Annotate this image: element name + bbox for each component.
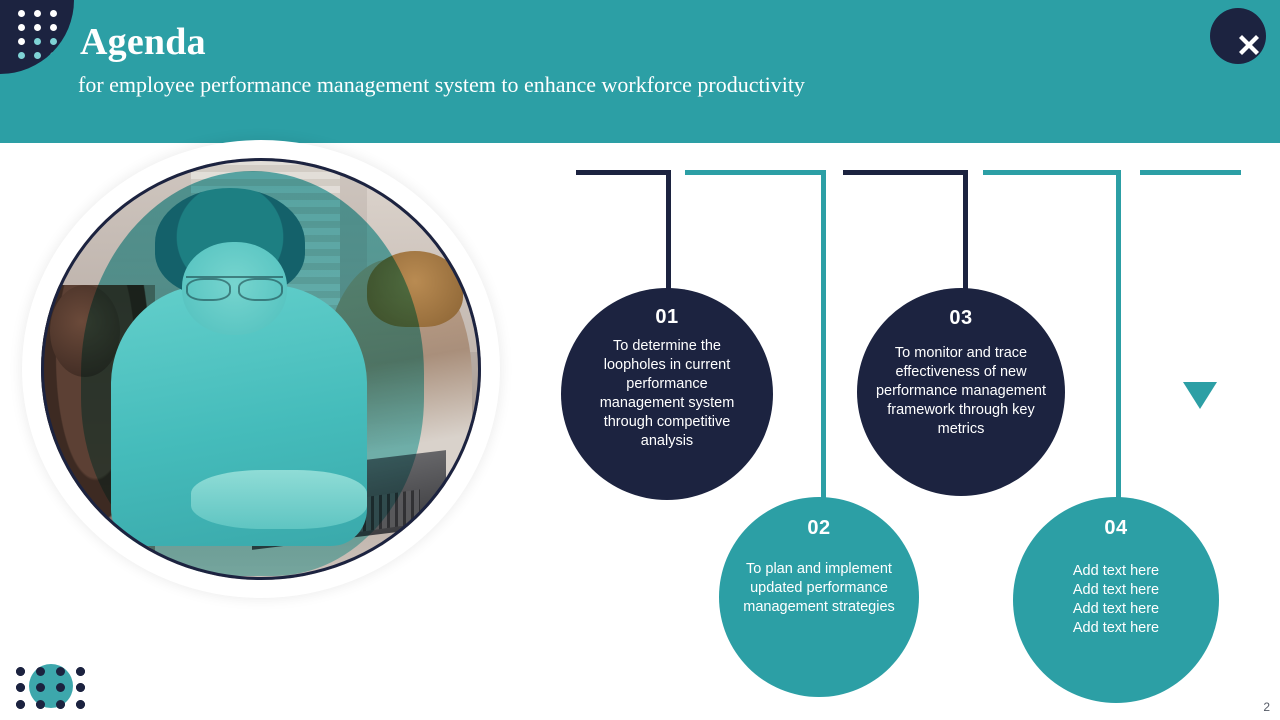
agenda-bubble-04-number: 04 [1104,517,1127,540]
agenda-bubble-01-text: To determine the loopholes in current pe… [587,337,747,451]
agenda-bubble-04-text: Add text hereAdd text hereAdd text hereA… [1031,562,1201,638]
connector-05-horizontal [1140,170,1241,175]
close-button[interactable] [1210,8,1266,64]
agenda-bubble-03[interactable]: 03To monitor and trace effectiveness of … [857,288,1065,496]
agenda-bubble-01[interactable]: 01To determine the loopholes in current … [561,288,773,500]
connector-02-vertical [821,170,826,505]
agenda-bubble-01-number: 01 [655,306,678,329]
connector-05 [1140,170,1241,175]
dot-grid-icon [18,10,62,62]
page-number: 2 [1263,700,1270,714]
agenda-bubble-04[interactable]: 04Add text hereAdd text hereAdd text her… [1013,497,1219,703]
page-title: Agenda [80,20,206,64]
connector-01 [576,170,671,290]
connector-04-horizontal [983,170,1121,175]
photo-frame [22,140,500,598]
bottom-left-dot-grid-overlay-icon [10,663,90,713]
team-working-on-laptop-photo [41,158,481,580]
agenda-bubble-03-number: 03 [949,307,972,330]
connector-03-horizontal [843,170,968,175]
agenda-bubble-02-number: 02 [807,517,830,540]
close-icon [1236,32,1262,58]
agenda-bubble-02[interactable]: 02To plan and implement updated performa… [719,497,919,697]
triangle-down-icon [1183,382,1217,409]
connector-01-vertical [666,170,671,290]
slide-canvas: Agenda for employee performance manageme… [0,0,1280,720]
page-subtitle: for employee performance management syst… [78,72,805,98]
connector-04-vertical [1116,170,1121,505]
connector-03 [843,170,968,290]
connector-01-horizontal [576,170,671,175]
agenda-bubble-03-text: To monitor and trace effectiveness of ne… [869,344,1053,439]
connector-03-vertical [963,170,968,290]
agenda-bubble-02-text: To plan and implement updated performanc… [731,560,907,617]
connector-02-horizontal [685,170,826,175]
